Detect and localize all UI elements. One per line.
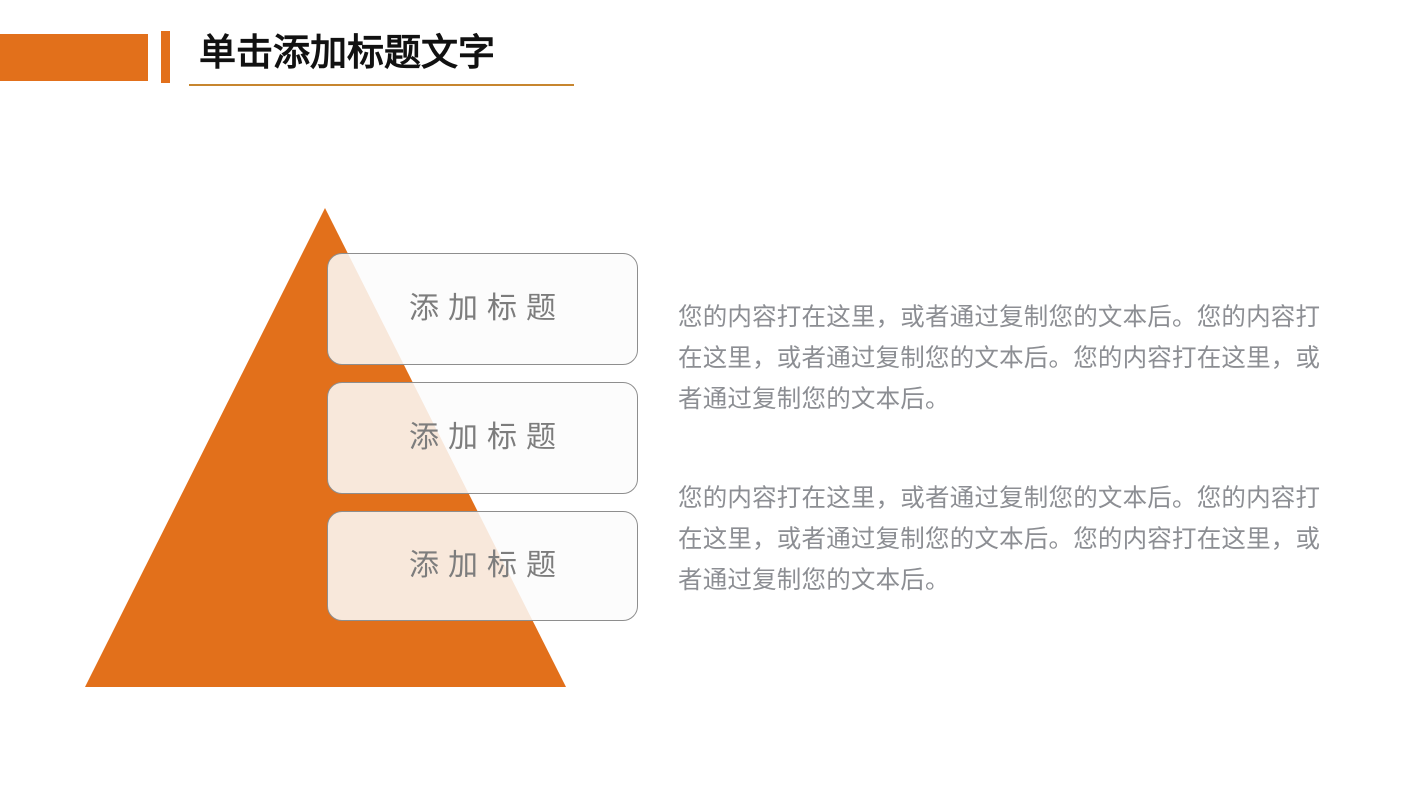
pyramid-tier-2-label: 添加标题: [400, 423, 565, 453]
pyramid-tier-2[interactable]: 添加标题: [327, 382, 638, 494]
pyramid-tier-1[interactable]: 添加标题: [327, 253, 638, 365]
pyramid-diagram: 添加标题 添加标题 添加标题: [0, 0, 700, 803]
content-paragraph-1[interactable]: 您的内容打在这里，或者通过复制您的文本后。您的内容打在这里，或者通过复制您的文本…: [678, 296, 1338, 419]
slide-canvas: 单击添加标题文字 添加标题 添加标题 添加标题 您的内容打在这里，或者通过复制您…: [0, 0, 1423, 803]
content-paragraph-2[interactable]: 您的内容打在这里，或者通过复制您的文本后。您的内容打在这里，或者通过复制您的文本…: [678, 477, 1338, 600]
pyramid-tier-3-label: 添加标题: [400, 551, 565, 581]
content-column: 您的内容打在这里，或者通过复制您的文本后。您的内容打在这里，或者通过复制您的文本…: [678, 296, 1338, 600]
pyramid-tier-1-label: 添加标题: [400, 294, 565, 324]
pyramid-tier-3[interactable]: 添加标题: [327, 511, 638, 621]
